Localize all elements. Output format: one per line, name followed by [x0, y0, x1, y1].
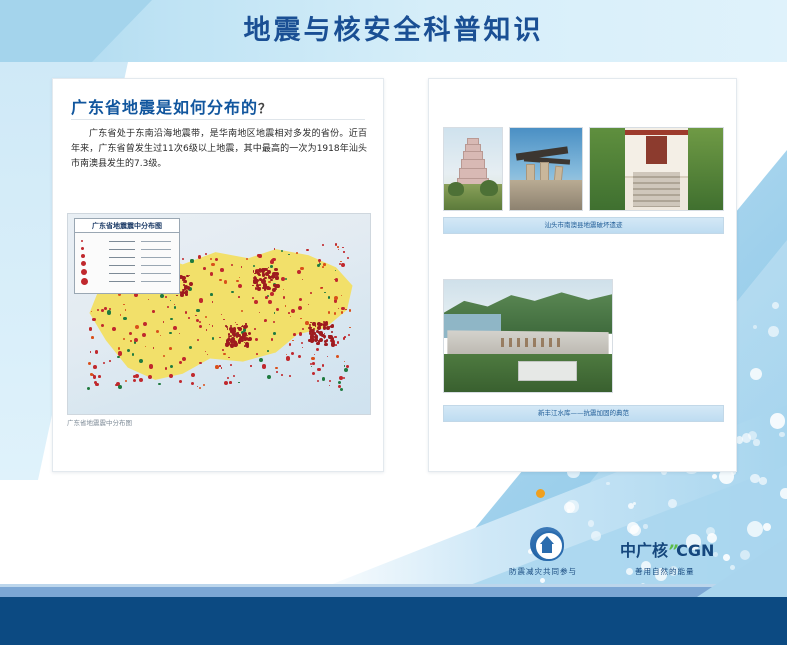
- seismic-prevention-logo: [530, 527, 564, 561]
- map-caption: 广东省地震震中分布图: [67, 417, 132, 427]
- left-content-card: 广东省地震是如何分布的？ 广东省处于东南沿海地震带，是华南地区地震相对多发的省份…: [52, 78, 384, 472]
- footer-navy-bar: [0, 597, 787, 645]
- cgn-logo-caption: 善用自然的能量: [635, 566, 695, 577]
- map-legend: [74, 232, 180, 294]
- right-content-card: 汕头市南澳县地震破坏遗迹 新丰江水库——抗震加固的典范: [428, 78, 737, 472]
- photo-xinfengjiang-dam: [443, 279, 613, 393]
- dam-photo-caption: 新丰江水库——抗震加固的典范: [443, 405, 724, 422]
- cgn-brand-text: 中广核: [620, 541, 668, 560]
- cgn-logo: 中广核’’CGN: [620, 537, 714, 561]
- cgn-swirl-icon: ’’: [668, 541, 676, 560]
- footer-blue-stripe: [0, 587, 787, 597]
- section-heading: 广东省地震是如何分布的？: [71, 94, 272, 118]
- seismic-logo-caption: 防震减灾共同参与: [509, 566, 577, 577]
- cgn-mark-text: CGN: [676, 541, 714, 560]
- poster-page: 地震与核安全科普知识 广东省地震是如何分布的？ 广东省处于东南沿海地震带，是华南…: [0, 0, 787, 645]
- section-heading-question-mark: ？: [258, 102, 272, 117]
- heading-divider: [71, 119, 365, 120]
- page-title: 地震与核安全科普知识: [0, 8, 787, 47]
- photo-collapsed-temple: [509, 127, 583, 211]
- orange-accent-dot: [536, 489, 545, 498]
- photo-damaged-building-stairs: [589, 127, 724, 211]
- left-body-text: 广东省处于东南沿海地震带，是华南地区地震相对多发的省份。近百年来，广东省曾发生过…: [71, 127, 367, 172]
- section-heading-text: 广东省地震是如何分布的: [71, 98, 258, 117]
- photo-damaged-pagoda: [443, 127, 503, 211]
- top-photos-caption: 汕头市南澳县地震破坏遗迹: [443, 217, 724, 234]
- earthquake-distribution-map: 广东省地震震中分布图: [67, 213, 371, 415]
